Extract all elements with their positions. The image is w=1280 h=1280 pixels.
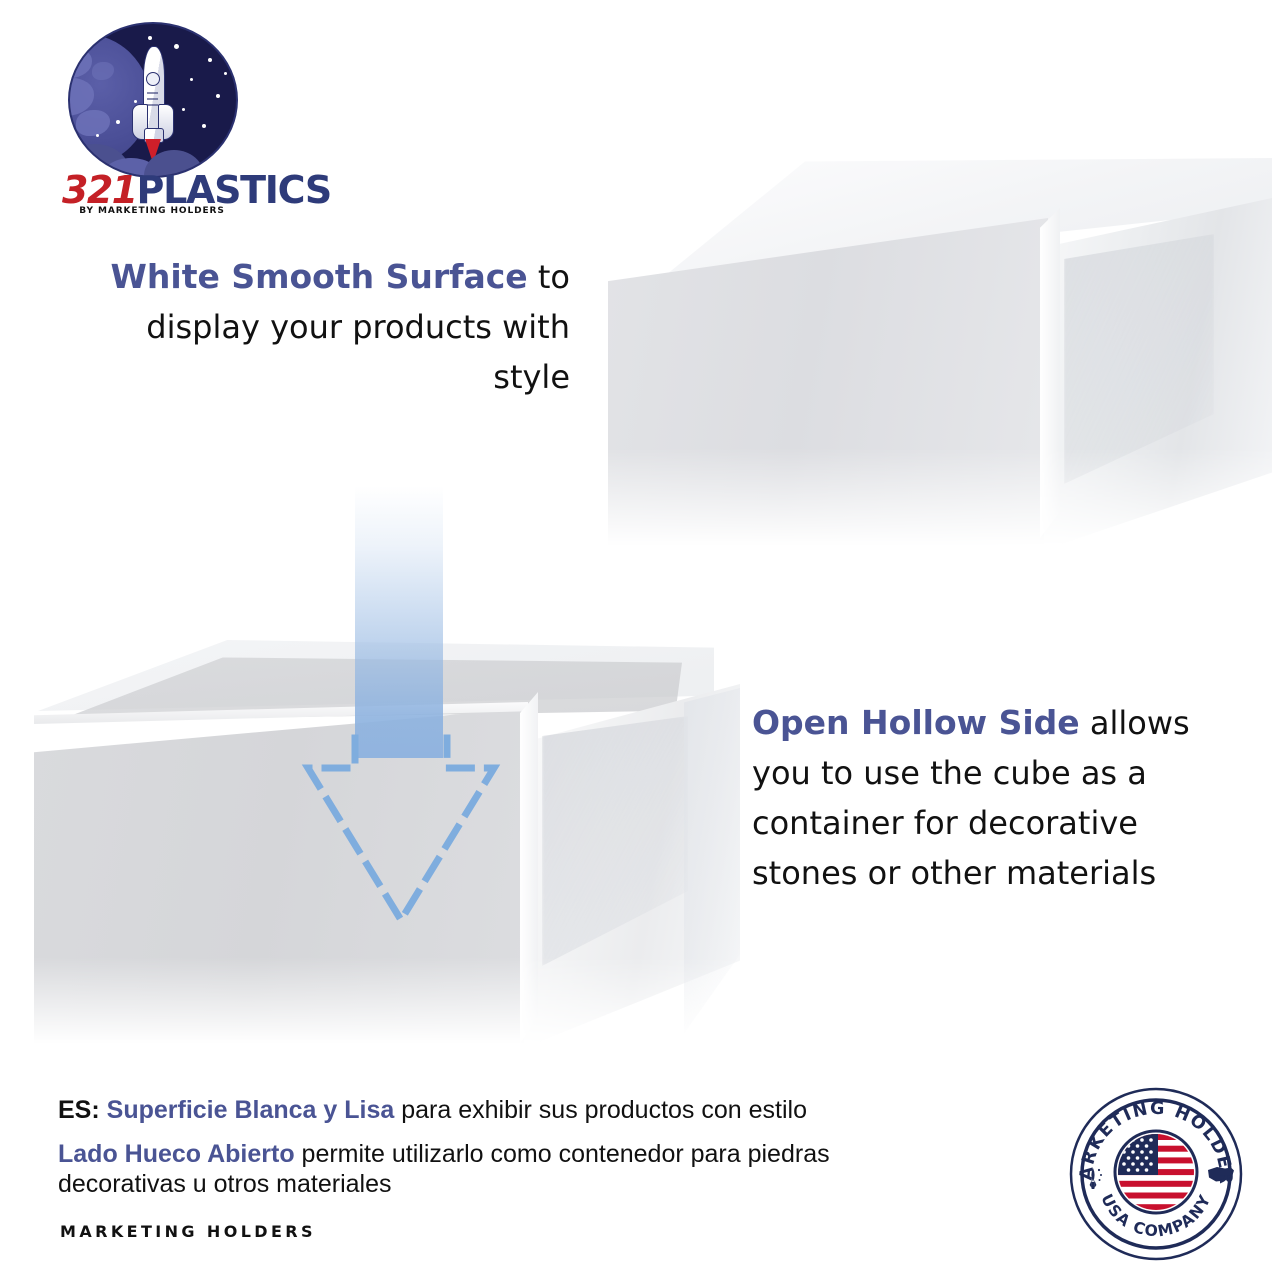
callout-left: White Smooth Surface to display your pro… xyxy=(100,252,570,402)
footer-brand-name: MARKETING HOLDERS xyxy=(60,1222,316,1241)
callout-right-highlight: Open Hollow Side xyxy=(752,703,1080,742)
dashed-down-arrow-icon xyxy=(286,724,516,934)
brand-logo: 321PLASTICS BY MARKETING HOLDERS xyxy=(62,22,242,212)
spanish-language-prefix: ES: xyxy=(58,1096,100,1124)
rocket-launch-globe-icon xyxy=(68,22,238,178)
white-solid-cube-top-surface xyxy=(600,158,1272,550)
callout-right: Open Hollow Side allows you to use the c… xyxy=(752,698,1202,898)
spanish-line-1-highlight: Superficie Blanca y Lisa xyxy=(107,1096,395,1124)
usa-flag-icon xyxy=(1118,1134,1194,1210)
spanish-line-2-highlight: Lado Hueco Abierto xyxy=(58,1140,295,1168)
logo-tagline: BY MARKETING HOLDERS xyxy=(62,206,242,216)
spanish-line-1: ES: Superficie Blanca y Lisa para exhibi… xyxy=(58,1094,958,1126)
cube-edge-rim xyxy=(1040,208,1060,538)
cube-front-face xyxy=(608,218,1048,550)
downward-light-beam xyxy=(355,486,443,758)
product-infographic: 321PLASTICS BY MARKETING HOLDERS xyxy=(0,0,1280,1280)
hollow-side-highlight xyxy=(684,688,740,1048)
hollow-corner-edge xyxy=(520,692,538,1044)
usa-company-seal-badge: MARKETING HOLDERS USA COMPANY xyxy=(1068,1086,1244,1262)
callout-left-highlight: White Smooth Surface xyxy=(110,257,527,296)
spanish-translation-block: ES: Superficie Blanca y Lisa para exhibi… xyxy=(58,1094,958,1199)
spanish-line-2: Lado Hueco Abierto permite utilizarlo co… xyxy=(58,1139,858,1199)
spanish-line-1-body: para exhibir sus productos con estilo xyxy=(401,1096,807,1124)
